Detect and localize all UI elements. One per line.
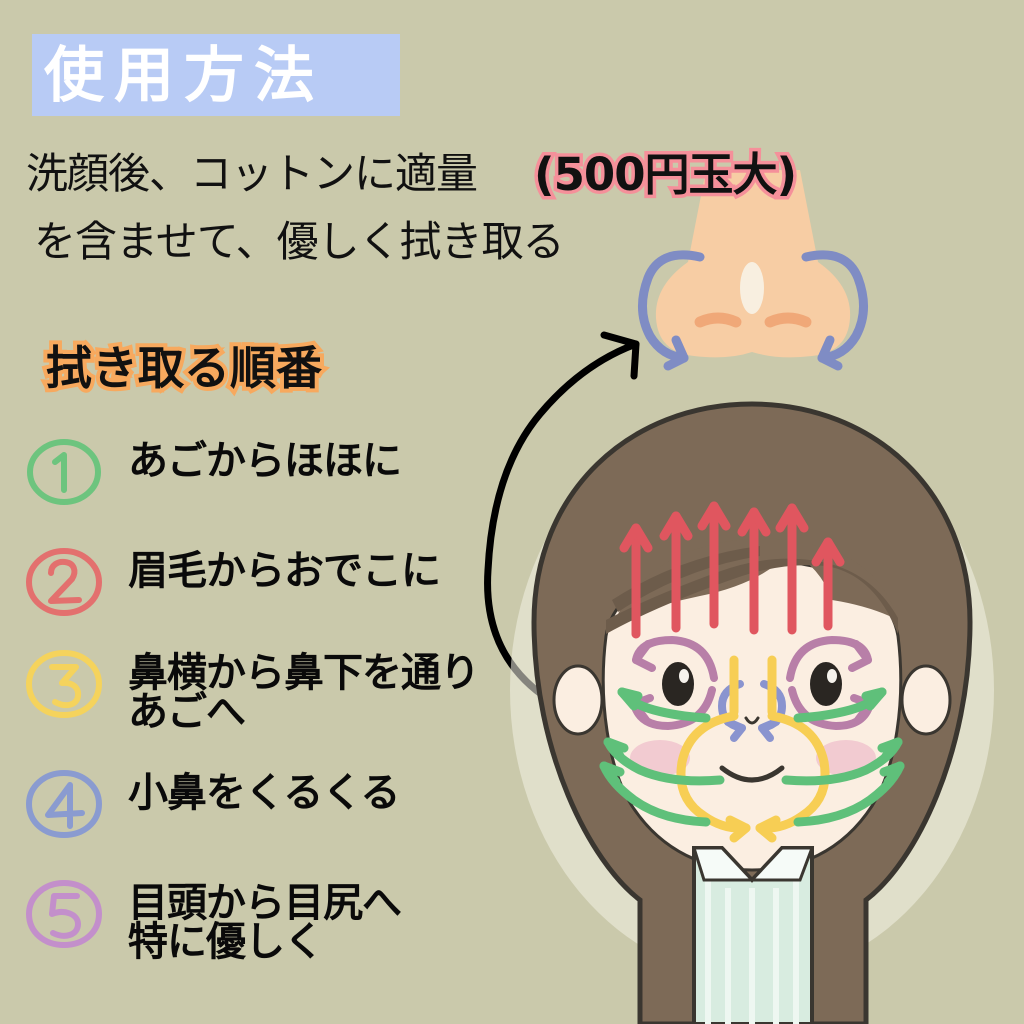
step-number-circle-1	[22, 436, 104, 508]
mouth-loop-arrows	[681, 660, 825, 838]
eye-arrows	[634, 640, 870, 726]
lead-line-2: を含ませて、優しく拭き取る	[34, 208, 564, 269]
usage-instructions-infographic: 使用方法 洗顔後、コットンに適量 (500円玉大) を含ませて、優しく拭き取る …	[0, 0, 1024, 1024]
step-number-circle-2	[22, 546, 104, 618]
girl-face-illustration	[510, 402, 994, 1024]
section-heading: 拭き取る順番	[46, 332, 322, 398]
step-item-1: あごからほほに	[22, 436, 401, 508]
lead-line-1: 洗顔後、コットンに適量	[26, 140, 477, 201]
step-number-circle-4	[22, 768, 104, 840]
step-item-2: 眉毛からおでこに	[22, 546, 440, 618]
step-number-circle-3	[22, 648, 104, 720]
step-label-2: 眉毛からおでこに	[128, 546, 440, 591]
nose-side-arrows	[722, 684, 782, 738]
forehead-arrows	[624, 506, 840, 634]
step-label-5: 目頭から目尻へ 特に優しく	[128, 878, 401, 962]
shirt-collar	[694, 848, 812, 1024]
cheek-arrows	[604, 692, 900, 822]
step-item-5: 目頭から目尻へ 特に優しく	[22, 878, 401, 962]
nose-swirl-arrows	[642, 255, 863, 366]
step-label-1: あごからほほに	[128, 436, 401, 481]
step-label-4: 小鼻をくるくる	[128, 768, 399, 813]
amount-highlight: (500円玉大)	[534, 138, 796, 203]
step-item-4: 小鼻をくるくる	[22, 768, 399, 840]
pointer-arrow	[488, 335, 636, 704]
step-item-3: 鼻横から鼻下を通り あごへ	[22, 648, 479, 732]
page-title: 使用方法	[44, 36, 394, 116]
step-label-3: 鼻横から鼻下を通り あごへ	[128, 648, 479, 732]
step-number-circle-5	[22, 878, 104, 950]
